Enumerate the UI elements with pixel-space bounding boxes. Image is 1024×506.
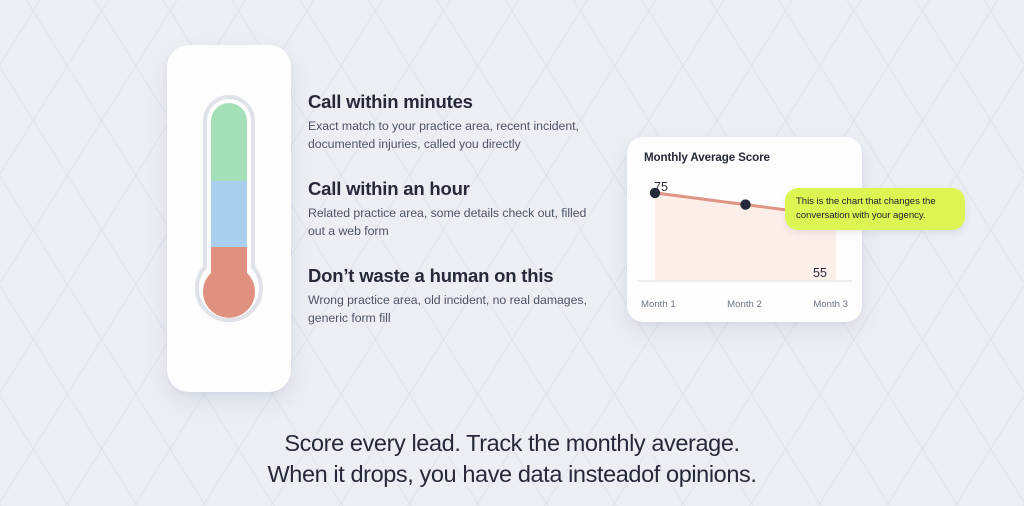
chart-last-point-value: 55 [813, 266, 827, 280]
x-tick-label: Month 3 [813, 299, 848, 310]
score-tier-description: Exact match to your practice area, recen… [308, 118, 593, 153]
slide-canvas: Call within minutes Exact match to your … [0, 0, 1024, 506]
score-tier-list: Call within minutes Exact match to your … [308, 90, 608, 327]
score-tier-title: Don’t waste a human on this [308, 264, 608, 287]
score-tier-title: Call within an hour [308, 177, 608, 200]
thermometer-card [167, 45, 291, 392]
score-tier-item: Don’t waste a human on this Wrong practi… [308, 264, 608, 327]
score-tier-description: Related practice area, some details chec… [308, 205, 593, 240]
x-tick-label: Month 2 [727, 299, 762, 310]
chart-first-point-value: 75 [654, 180, 668, 194]
thermometer-icon [193, 95, 265, 345]
chart-data-point [740, 199, 750, 209]
chart-callout-annotation: This is the chart that changes the conve… [785, 188, 965, 230]
x-tick-label: Month 1 [641, 299, 676, 310]
caption-line-2: When it drops, you have data insteadof o… [0, 459, 1024, 490]
score-tier-item: Call within minutes Exact match to your … [308, 90, 608, 153]
score-tier-description: Wrong practice area, old incident, no re… [308, 292, 593, 327]
chart-title: Monthly Average Score [644, 151, 770, 164]
bottom-caption: Score every lead. Track the monthly aver… [0, 428, 1024, 490]
caption-line-1: Score every lead. Track the monthly aver… [0, 428, 1024, 459]
score-tier-title: Call within minutes [308, 90, 608, 113]
score-tier-item: Call within an hour Related practice are… [308, 177, 608, 240]
chart-x-axis-labels: Month 1 Month 2 Month 3 [637, 299, 852, 310]
